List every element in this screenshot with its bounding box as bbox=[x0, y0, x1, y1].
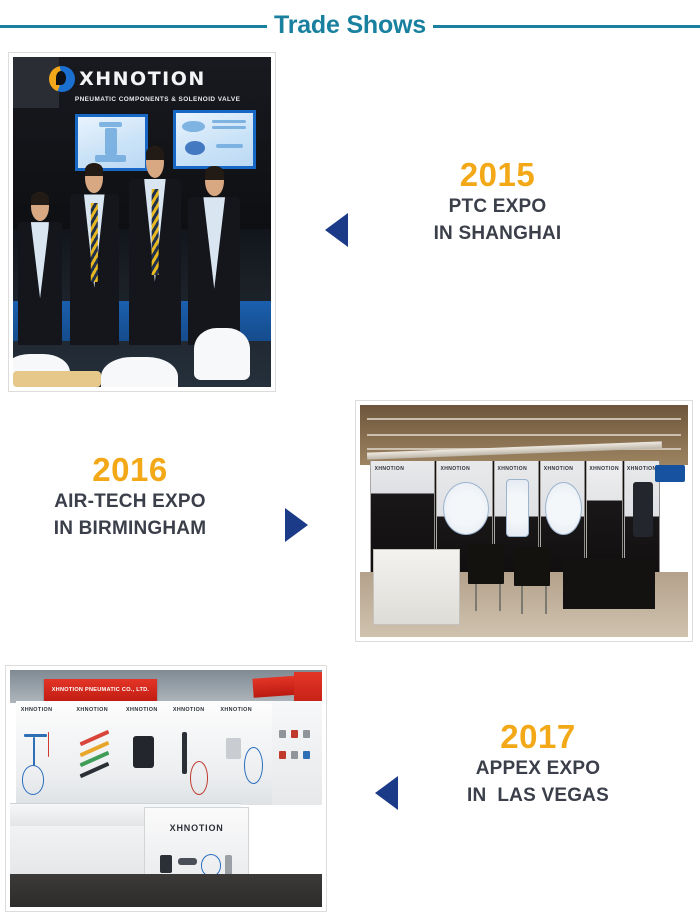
booth-wall-panel: XHNOTION bbox=[169, 701, 217, 805]
banner-text: XHNOTION PNEUMATIC CO., LTD. bbox=[52, 687, 150, 693]
booth-wall-panel: XHNOTION bbox=[122, 701, 170, 805]
panel-logo-text: XHNOTION bbox=[589, 466, 619, 472]
caption-line-2: IN BIRMINGHAM bbox=[10, 515, 250, 543]
hall-direction-sign bbox=[655, 465, 685, 481]
booth-overhead-banner: XHNOTION PNEUMATIC CO., LTD. bbox=[44, 679, 156, 700]
photo-2016-air-tech-expo: XHNOTION XHNOTION XHNOTION XHNOTION XHNO… bbox=[355, 400, 693, 642]
booth-logo: XHNOTION bbox=[49, 66, 206, 92]
caption-year: 2016 bbox=[10, 453, 250, 488]
booth-product-panel bbox=[173, 110, 256, 169]
booth-person bbox=[188, 166, 240, 344]
photo-2017-content: XHNOTION PNEUMATIC CO., LTD. XHNOTION XH… bbox=[10, 670, 322, 907]
caption-2017: 2017 APPEX EXPO IN LAS VEGAS bbox=[423, 720, 653, 810]
booth-wall-panel: XHNOTION bbox=[216, 701, 273, 805]
page-title: Trade Shows bbox=[267, 13, 433, 38]
booth-chair bbox=[194, 328, 251, 381]
caption-line-2: IN LAS VEGAS bbox=[423, 782, 653, 810]
arrow-right-icon-2016 bbox=[285, 508, 308, 542]
booth-chair bbox=[514, 547, 550, 586]
caption-year: 2015 bbox=[390, 158, 605, 193]
booth-logo-text: XHNOTION bbox=[79, 68, 206, 90]
caption-year: 2017 bbox=[423, 720, 653, 755]
booth-tagline: PNEUMATIC COMPONENTS & SOLENOID VALVE bbox=[75, 96, 240, 103]
caption-line-1: AIR-TECH EXPO bbox=[10, 488, 250, 516]
panel-logo-text: XHNOTION bbox=[220, 707, 252, 713]
arrow-left-icon-2017 bbox=[375, 776, 398, 810]
xhnotion-logo-icon bbox=[49, 66, 75, 92]
panel-logo-text: XHNOTION bbox=[440, 466, 470, 472]
caption-2016: 2016 AIR-TECH EXPO IN BIRMINGHAM bbox=[10, 453, 250, 543]
panel-logo-text: XHNOTION bbox=[76, 707, 108, 713]
booth-person bbox=[70, 163, 119, 345]
photo-2015-content: XHNOTION PNEUMATIC COMPONENTS & SOLENOID… bbox=[13, 57, 271, 387]
booth-reception-desk bbox=[373, 549, 460, 625]
booth-person bbox=[18, 192, 62, 344]
caption-2015: 2015 PTC EXPO IN SHANGHAI bbox=[390, 158, 605, 248]
arrow-left-icon-2015 bbox=[325, 213, 348, 247]
panel-logo-text: XHNOTION bbox=[627, 466, 657, 472]
panel-logo-text: XHNOTION bbox=[21, 707, 53, 713]
booth-table bbox=[13, 371, 101, 388]
photo-2016-content: XHNOTION XHNOTION XHNOTION XHNOTION XHNO… bbox=[360, 405, 688, 637]
booth-display-table bbox=[563, 558, 655, 609]
caption-line-2: IN SHANGHAI bbox=[390, 220, 605, 248]
caption-line-1: APPEX EXPO bbox=[423, 755, 653, 783]
photo-2017-appex-expo: XHNOTION PNEUMATIC CO., LTD. XHNOTION XH… bbox=[5, 665, 327, 912]
photo-2015-ptc-expo: XHNOTION PNEUMATIC COMPONENTS & SOLENOID… bbox=[8, 52, 276, 392]
panel-logo-text: XHNOTION bbox=[173, 707, 205, 713]
booth-person bbox=[129, 146, 181, 344]
booth-wall-panel bbox=[272, 701, 322, 805]
desk-logo-text: XHNOTION bbox=[170, 823, 224, 833]
panel-logo-text: XHNOTION bbox=[498, 466, 528, 472]
booth-wall-panel: XHNOTION bbox=[16, 701, 73, 805]
panel-logo-text: XHNOTION bbox=[375, 466, 405, 472]
booth-wall-panel: XHNOTION bbox=[72, 701, 123, 805]
hall-floor bbox=[10, 874, 322, 907]
booth-chair bbox=[468, 544, 504, 583]
header-rule-right bbox=[433, 25, 700, 28]
booth-chair bbox=[101, 357, 178, 387]
panel-logo-text: XHNOTION bbox=[544, 466, 574, 472]
header-rule-left bbox=[0, 25, 267, 28]
caption-line-1: PTC EXPO bbox=[390, 193, 605, 221]
panel-logo-text: XHNOTION bbox=[126, 707, 158, 713]
page-header: Trade Shows bbox=[0, 0, 700, 52]
